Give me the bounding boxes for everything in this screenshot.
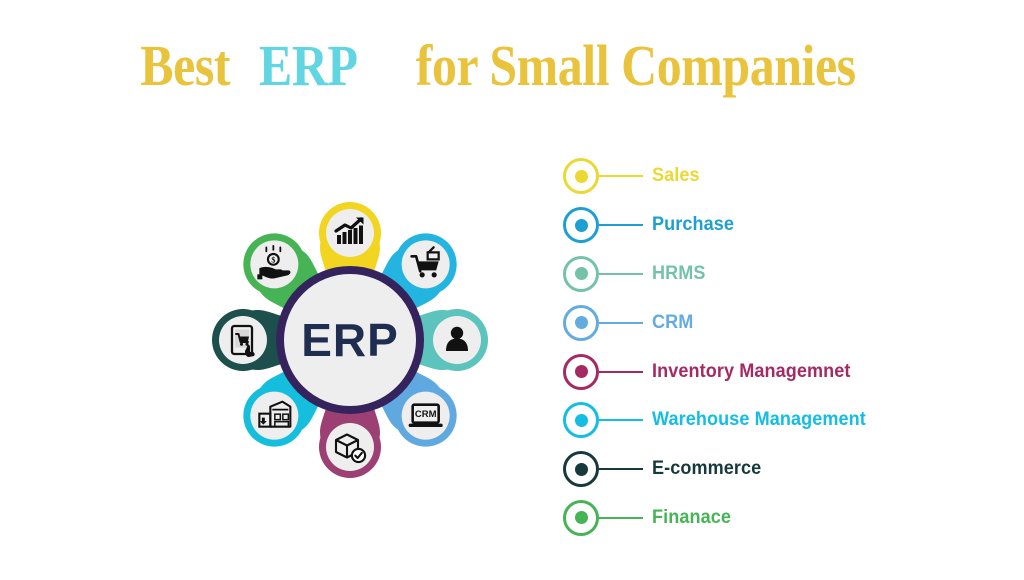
page-title: Best ERP for Small Companies bbox=[0, 36, 1024, 97]
ring-dot-marker bbox=[563, 500, 599, 536]
legend-item-hrms[interactable]: HRMS bbox=[563, 250, 1003, 299]
ring-dot-marker bbox=[563, 305, 599, 341]
legend-connector-line bbox=[599, 322, 643, 324]
title-part-best: Best bbox=[140, 36, 230, 97]
legend-item-sales[interactable]: Sales bbox=[563, 152, 1003, 201]
legend-connector-line bbox=[599, 517, 643, 519]
legend-connector-line bbox=[599, 224, 643, 226]
legend-connector-line bbox=[599, 468, 643, 470]
legend-item-crm[interactable]: CRM bbox=[563, 298, 1003, 347]
hub-label: ERP bbox=[301, 314, 399, 366]
title-part-erp: ERP bbox=[259, 36, 357, 97]
legend-item-finance[interactable]: Finanace bbox=[563, 494, 1003, 543]
legend-label: Purchase bbox=[652, 214, 734, 236]
legend-label: Finanace bbox=[652, 507, 731, 529]
legend: Sales Purchase HRMS CRM Inventory Manage… bbox=[563, 152, 1003, 542]
ring-dot-marker bbox=[563, 354, 599, 390]
ring-dot-marker bbox=[563, 207, 599, 243]
legend-label: Warehouse Management bbox=[652, 409, 866, 431]
legend-label: CRM bbox=[652, 312, 693, 334]
legend-item-purchase[interactable]: Purchase bbox=[563, 201, 1003, 250]
legend-item-ecommerce[interactable]: E-commerce bbox=[563, 445, 1003, 494]
erp-hub[interactable]: ERP bbox=[280, 270, 420, 410]
legend-label: E-commerce bbox=[652, 458, 761, 480]
legend-label: Sales bbox=[652, 165, 700, 187]
legend-label: Inventory Managemnet bbox=[652, 361, 850, 383]
erp-hub-diagram: CRM bbox=[150, 140, 550, 540]
title-part-rest: for Small Companies bbox=[415, 36, 855, 97]
ring-dot-marker bbox=[563, 451, 599, 487]
legend-connector-line bbox=[599, 419, 643, 421]
legend-connector-line bbox=[599, 273, 643, 275]
ring-dot-marker bbox=[563, 158, 599, 194]
legend-connector-line bbox=[599, 371, 643, 373]
legend-item-warehouse-management[interactable]: Warehouse Management bbox=[563, 396, 1003, 445]
legend-label: HRMS bbox=[652, 263, 706, 285]
ring-dot-marker bbox=[563, 402, 599, 438]
legend-connector-line bbox=[599, 175, 643, 177]
ring-dot-marker bbox=[563, 256, 599, 292]
legend-item-inventory-management[interactable]: Inventory Managemnet bbox=[563, 347, 1003, 396]
